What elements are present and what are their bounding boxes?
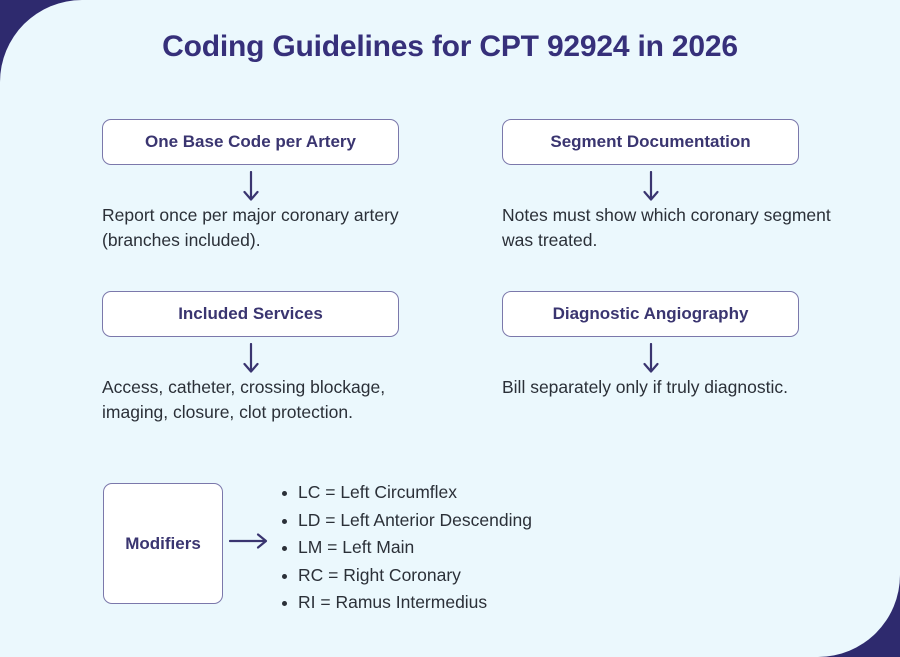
card-body-segment-documentation: Notes must show which coronary segment w… — [502, 203, 832, 253]
card-included-services[interactable]: Included Services — [102, 291, 399, 337]
card-one-base-code-per-artery[interactable]: One Base Code per Artery — [102, 119, 399, 165]
card-heading: Segment Documentation — [550, 132, 750, 152]
arrow-down-icon — [236, 171, 266, 205]
card-body-diagnostic-angiography: Bill separately only if truly diagnostic… — [502, 375, 832, 400]
list-item: LD = Left Anterior Descending — [282, 507, 532, 535]
card-heading: One Base Code per Artery — [145, 132, 356, 152]
card-heading: Included Services — [178, 304, 323, 324]
list-item: RI = Ramus Intermedius — [282, 589, 532, 617]
card-body-one-base-code-per-artery: Report once per major coronary artery (b… — [102, 203, 422, 253]
card-heading: Modifiers — [125, 534, 201, 554]
card-modifiers[interactable]: Modifiers — [103, 483, 223, 604]
card-diagnostic-angiography[interactable]: Diagnostic Angiography — [502, 291, 799, 337]
arrow-down-icon — [236, 343, 266, 377]
card-body-included-services: Access, catheter, crossing blockage, ima… — [102, 375, 422, 425]
arrow-down-icon — [636, 171, 666, 205]
list-item: LC = Left Circumflex — [282, 479, 532, 507]
card-segment-documentation[interactable]: Segment Documentation — [502, 119, 799, 165]
card-heading: Diagnostic Angiography — [553, 304, 749, 324]
page-title: Coding Guidelines for CPT 92924 in 2026 — [0, 30, 900, 64]
modifier-list: LC = Left Circumflex LD = Left Anterior … — [282, 479, 532, 617]
infographic-root: Coding Guidelines for CPT 92924 in 2026 … — [0, 0, 900, 657]
arrow-down-icon — [636, 343, 666, 377]
list-item: RC = Right Coronary — [282, 562, 532, 590]
arrow-right-icon — [229, 528, 271, 554]
list-item: LM = Left Main — [282, 534, 532, 562]
